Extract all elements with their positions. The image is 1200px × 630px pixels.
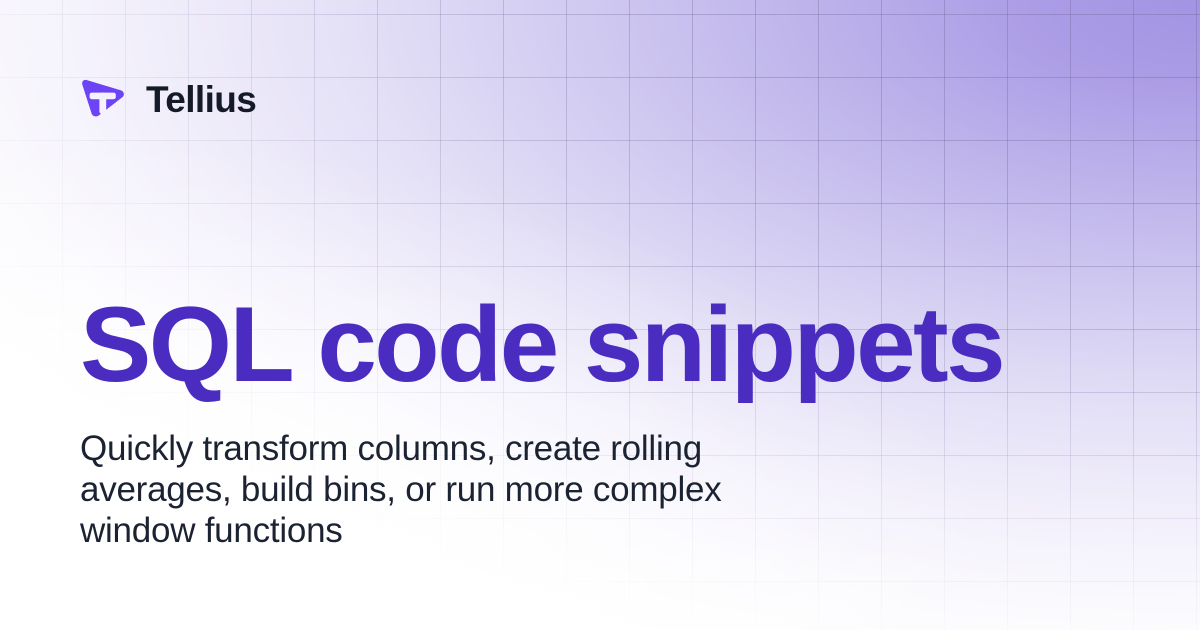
- card-content: Tellius SQL code snippets Quickly transf…: [0, 0, 1200, 630]
- brand-lockup[interactable]: Tellius: [78, 74, 256, 124]
- page-subtitle: Quickly transform columns, create rollin…: [80, 428, 840, 551]
- page-title: SQL code snippets: [80, 288, 1003, 400]
- tellius-logo-icon: [78, 74, 128, 124]
- og-card: Tellius SQL code snippets Quickly transf…: [0, 0, 1200, 630]
- brand-name: Tellius: [146, 81, 256, 118]
